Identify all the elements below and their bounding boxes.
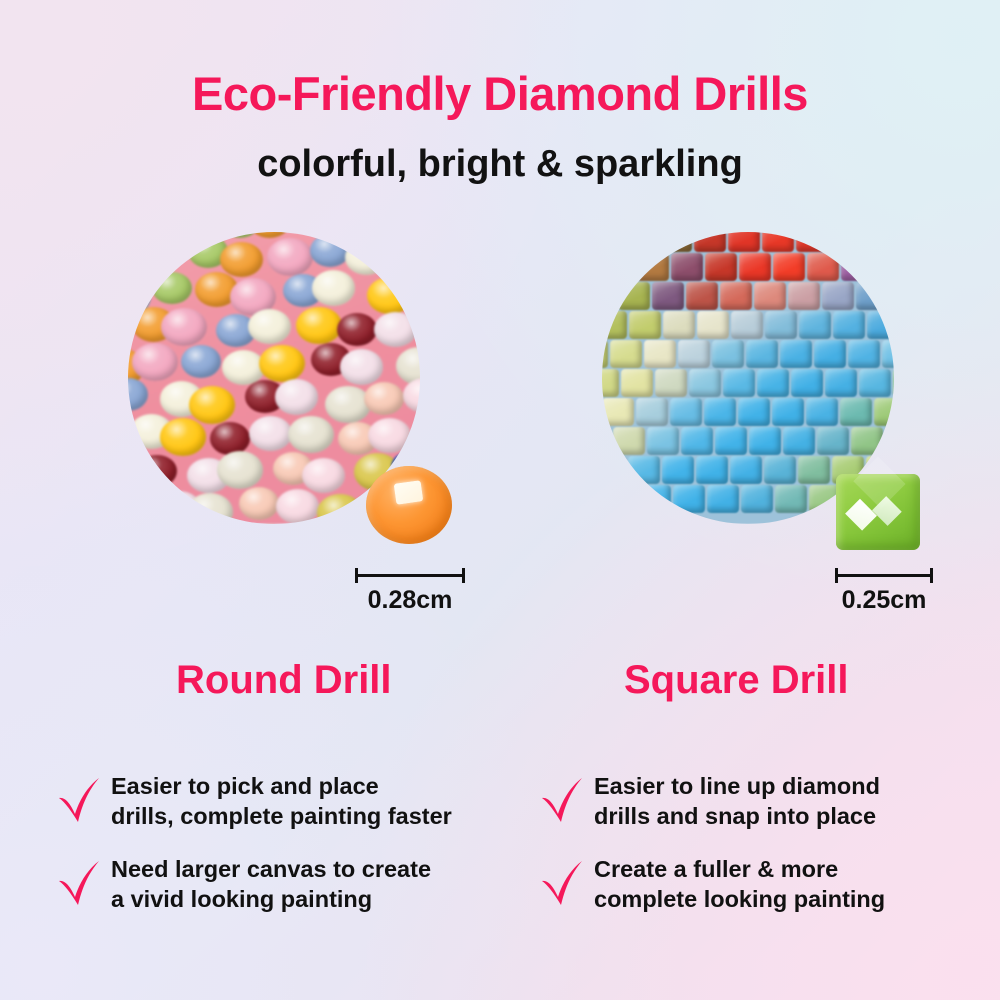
list-item-text: Easier to pick and place drills, complet… (111, 772, 452, 831)
square-drill-bullets: Easier to line up diamond drills and sna… (538, 772, 988, 938)
measurement-rule-icon (835, 568, 933, 582)
round-drill-sample-gem (366, 466, 452, 544)
check-icon (538, 857, 586, 909)
round-drill-bullets: Easier to pick and place drills, complet… (55, 772, 505, 938)
list-item: Easier to line up diamond drills and sna… (538, 772, 988, 831)
measurement-label: 0.28cm (355, 586, 465, 615)
list-item-text: Need larger canvas to create a vivid loo… (111, 855, 431, 914)
list-item-text: Create a fuller & more complete looking … (594, 855, 885, 914)
list-item: Easier to pick and place drills, complet… (55, 772, 505, 831)
round-drill-heading: Round Drill (176, 658, 392, 703)
measurement-rule-icon (355, 568, 465, 582)
square-drill-measurement: 0.25cm (835, 568, 933, 615)
page-title: Eco-Friendly Diamond Drills (0, 66, 1000, 121)
square-drill-heading: Square Drill (624, 658, 849, 703)
square-drill-sample-gem (836, 474, 920, 550)
check-icon (538, 774, 586, 826)
list-item: Need larger canvas to create a vivid loo… (55, 855, 505, 914)
page-subtitle: colorful, bright & sparkling (0, 143, 1000, 186)
check-icon (55, 774, 103, 826)
list-item-text: Easier to line up diamond drills and sna… (594, 772, 880, 831)
infographic-page: Eco-Friendly Diamond Drills colorful, br… (0, 0, 1000, 1000)
check-icon (55, 857, 103, 909)
measurement-label: 0.25cm (835, 586, 933, 615)
round-drill-measurement: 0.28cm (355, 568, 465, 615)
list-item: Create a fuller & more complete looking … (538, 855, 988, 914)
